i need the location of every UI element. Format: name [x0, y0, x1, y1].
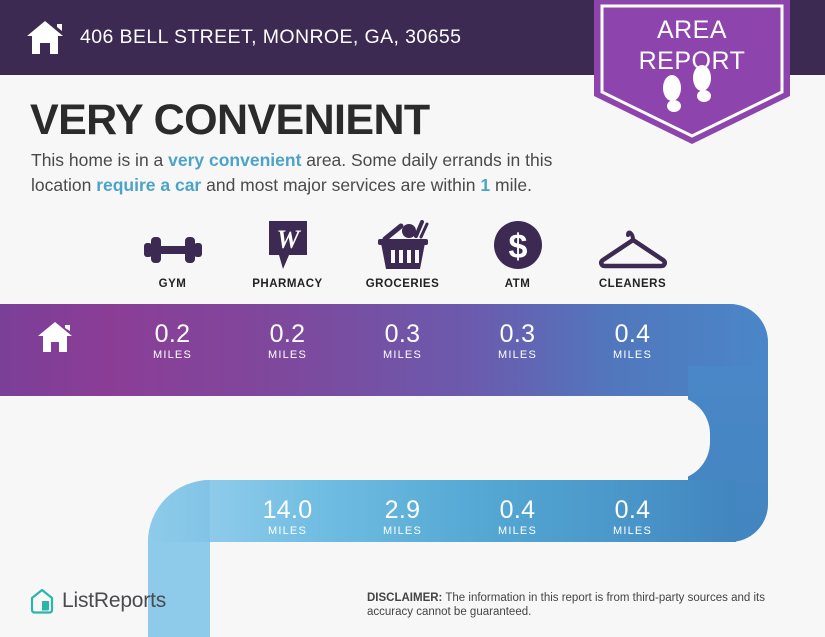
coat-hanger-icon — [575, 213, 690, 271]
dollar-circle-icon: $ — [460, 213, 575, 271]
svg-text:W: W — [276, 225, 301, 254]
category-icon-groceries: GROCERIES — [345, 213, 460, 290]
distance-value-pharmacy: 0.2 MILES — [230, 321, 345, 361]
distance-value-gas: 0.4 MILES — [575, 497, 690, 537]
distance-number: 2.9 — [345, 497, 460, 524]
category-icon-pharmacy: W PHARMACY — [230, 213, 345, 290]
disclaimer-label: DISCLAIMER: — [367, 592, 442, 604]
distance-unit: MILES — [115, 349, 230, 361]
category-icon-cleaners: CLEANERS — [575, 213, 690, 290]
category-label: ATM — [460, 278, 575, 290]
blurb-highlight-distance: 1 — [480, 175, 490, 195]
distance-unit: MILES — [575, 349, 690, 361]
distance-number: 0.2 — [115, 321, 230, 348]
shopping-basket-icon — [345, 213, 460, 271]
category-icon-gym: GYM — [115, 213, 230, 290]
blurb-part-3: and most major services are within — [201, 175, 480, 195]
distance-unit: MILES — [345, 349, 460, 361]
distance-unit: MILES — [575, 525, 690, 537]
area-report-infographic: 406 BELL STREET, MONROE, GA, 30655 AREA … — [0, 0, 825, 637]
badge-line-2: REPORT — [594, 46, 790, 77]
distance-unit: MILES — [460, 349, 575, 361]
summary-text: This home is in a very convenient area. … — [31, 148, 591, 197]
category-label: PHARMACY — [230, 278, 345, 290]
category-label: CLEANERS — [575, 278, 690, 290]
ribbon-left-clear — [0, 480, 148, 542]
icon-row-primary: GYM W PHARMACY — [115, 213, 690, 303]
blurb-highlight-convenience: very convenient — [168, 150, 301, 170]
category-icon-atm: $ ATM — [460, 213, 575, 290]
distance-value-atm: 0.3 MILES — [460, 321, 575, 361]
blurb-highlight-car: require a car — [96, 175, 201, 195]
area-report-badge: AREA REPORT — [594, 0, 790, 146]
home-icon — [37, 320, 73, 354]
disclaimer: DISCLAIMER: The information in this repo… — [367, 591, 799, 619]
distance-number: 0.3 — [460, 321, 575, 348]
distance-unit: MILES — [345, 525, 460, 537]
blurb-part-4: mile. — [490, 175, 532, 195]
category-label: GYM — [115, 278, 230, 290]
distance-unit: MILES — [460, 525, 575, 537]
distance-unit: MILES — [230, 525, 345, 537]
page-title: VERY CONVENIENT — [30, 96, 430, 145]
distance-value-movie-theater: 14.0 MILES — [230, 497, 345, 537]
distance-number: 0.2 — [230, 321, 345, 348]
listreports-logo[interactable]: ListReports — [30, 588, 166, 614]
distance-value-medical: 2.9 MILES — [345, 497, 460, 537]
svg-text:$: $ — [508, 228, 527, 266]
listreports-house-icon — [30, 588, 54, 614]
ribbon-inner-gap — [0, 396, 672, 480]
distance-number: 0.4 — [575, 497, 690, 524]
dumbbell-icon — [115, 213, 230, 271]
distance-number: 0.3 — [345, 321, 460, 348]
distance-number: 0.4 — [460, 497, 575, 524]
distance-value-cleaners: 0.4 MILES — [575, 321, 690, 361]
blurb-part-1: This home is in a — [31, 150, 168, 170]
logo-text: ListReports — [62, 589, 166, 613]
distance-value-gym: 0.2 MILES — [115, 321, 230, 361]
distance-value-groceries: 0.3 MILES — [345, 321, 460, 361]
home-icon — [24, 17, 66, 59]
category-label: GROCERIES — [345, 278, 460, 290]
distance-number: 0.4 — [575, 321, 690, 348]
distance-number: 14.0 — [230, 497, 345, 524]
badge-line-1: AREA — [594, 15, 790, 46]
walgreens-w-icon: W — [230, 213, 345, 271]
distance-value-coffee: 0.4 MILES — [460, 497, 575, 537]
badge-label: AREA REPORT — [594, 15, 790, 77]
property-address: 406 BELL STREET, MONROE, GA, 30655 — [80, 26, 461, 49]
distance-unit: MILES — [230, 349, 345, 361]
